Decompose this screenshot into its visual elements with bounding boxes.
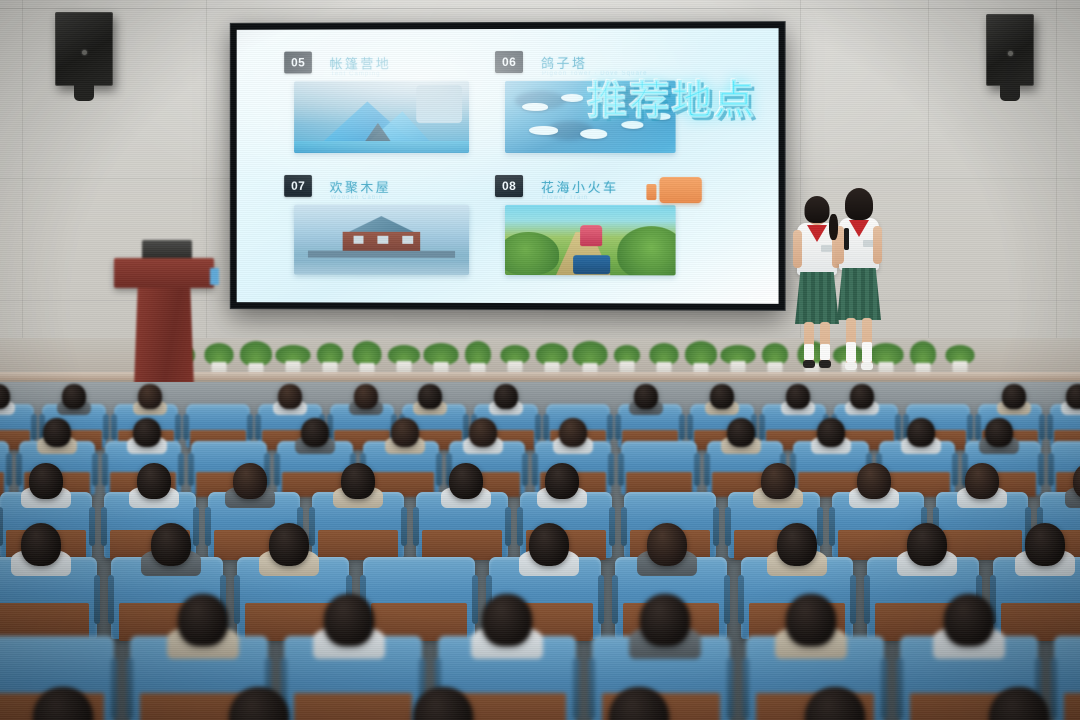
pigeon-shape bbox=[580, 128, 607, 138]
audience-member-head bbox=[647, 523, 688, 566]
audience-member-head bbox=[278, 384, 302, 409]
audience-member-head bbox=[857, 463, 891, 499]
audience-member-head bbox=[137, 463, 171, 499]
potted-plant bbox=[462, 338, 494, 376]
audience-member-head bbox=[62, 384, 86, 409]
audience-member-head bbox=[354, 384, 378, 409]
entry-number-badge: 08 bbox=[495, 175, 523, 197]
podium-monitor bbox=[142, 240, 192, 260]
slide-entry-05: 05 帐篷营地 Tent Camping bbox=[284, 51, 473, 73]
slide-entry-07: 07 欢聚木屋 Wooden Cabin bbox=[284, 175, 473, 197]
audience-member-head bbox=[640, 594, 689, 646]
red-scarf bbox=[807, 225, 827, 242]
legs bbox=[846, 318, 872, 370]
audience-member-head bbox=[33, 687, 93, 720]
audience-member-head bbox=[985, 418, 1013, 448]
entry-number-badge: 05 bbox=[284, 51, 312, 73]
train-car-shape bbox=[573, 256, 611, 274]
entry-title: 欢聚木屋 bbox=[330, 176, 392, 195]
audience-member-head bbox=[391, 418, 419, 448]
potted-plant bbox=[277, 336, 309, 374]
wall-seam bbox=[928, 0, 929, 340]
potted-plant bbox=[944, 336, 976, 374]
window-shape bbox=[378, 236, 388, 244]
potted-plant bbox=[499, 336, 531, 374]
window-shape bbox=[402, 236, 412, 244]
wall-speaker-left bbox=[55, 12, 113, 86]
audience-member-head bbox=[324, 594, 373, 646]
entry-title: 鸽子塔 bbox=[541, 52, 588, 71]
arm-holding-mic bbox=[873, 226, 882, 264]
audience-member-head bbox=[151, 523, 192, 566]
water-shape bbox=[294, 259, 469, 275]
audience-member-head bbox=[777, 523, 818, 566]
entry-subtitle: Pigeon Tower · Dove Square bbox=[542, 71, 648, 77]
audience-member-head bbox=[1066, 384, 1080, 409]
podium-top bbox=[114, 258, 214, 288]
audience-member-head bbox=[494, 384, 518, 409]
entry-title: 花海小火车 bbox=[541, 177, 619, 196]
ponytail bbox=[829, 214, 838, 240]
tree-shape bbox=[416, 85, 462, 122]
potted-plant bbox=[240, 338, 272, 376]
audience-member-head bbox=[907, 523, 948, 566]
audience-member-head bbox=[944, 594, 993, 646]
audience-member-head bbox=[529, 523, 570, 566]
entry-thumbnail-train bbox=[505, 205, 676, 275]
speaker-mount bbox=[1000, 83, 1020, 101]
audience-area bbox=[0, 382, 1080, 720]
audience-member-head bbox=[727, 418, 755, 448]
locomotive-shape bbox=[580, 225, 602, 246]
wall-speaker-right bbox=[986, 14, 1034, 86]
audience-member-head bbox=[1002, 384, 1026, 409]
orange-decoration-mark bbox=[659, 177, 701, 203]
potted-plant bbox=[907, 338, 939, 376]
audience-member-head bbox=[965, 463, 999, 499]
bush-shape bbox=[617, 226, 675, 275]
potted-plant bbox=[574, 338, 606, 376]
audience-member-head bbox=[634, 384, 658, 409]
wall-seam bbox=[1056, 0, 1057, 340]
microphone[interactable] bbox=[844, 228, 849, 250]
cabin-photo bbox=[294, 205, 469, 275]
potted-plant bbox=[536, 337, 568, 375]
audience-member-head bbox=[301, 418, 329, 448]
potted-plant bbox=[314, 337, 346, 375]
arm bbox=[793, 230, 802, 268]
audience-member-head bbox=[907, 418, 935, 448]
hair bbox=[845, 188, 873, 220]
audience-member-head bbox=[43, 418, 71, 448]
entry-subtitle: Flower Train bbox=[542, 195, 588, 201]
audience-member-head bbox=[545, 463, 579, 499]
speaker-mount bbox=[74, 83, 94, 101]
speaker-cone-icon bbox=[82, 50, 87, 55]
wall-seam bbox=[22, 0, 23, 340]
auditorium-scene: 05 帐篷营地 Tent Camping 06 鸽子塔 Pigeo bbox=[0, 0, 1080, 720]
audience-member-head bbox=[418, 384, 442, 409]
uniform-skirt bbox=[837, 268, 881, 320]
podium-sign bbox=[210, 268, 219, 285]
audience-member-head bbox=[761, 463, 795, 499]
pigeon-shape bbox=[561, 94, 583, 102]
slide-entry-06: 06 鸽子塔 Pigeon Tower · Dove Square bbox=[495, 51, 696, 74]
presenter-right bbox=[832, 188, 886, 384]
audience-member-head bbox=[469, 418, 497, 448]
legs bbox=[804, 322, 830, 368]
entry-number-badge: 06 bbox=[495, 51, 523, 73]
audience-member-head bbox=[1025, 523, 1066, 566]
audience-member-head bbox=[138, 384, 162, 409]
entry-subtitle: Tent Camping bbox=[331, 71, 381, 77]
audience-member-head bbox=[989, 687, 1049, 720]
seat-row bbox=[0, 692, 1080, 720]
potted-plant bbox=[648, 337, 680, 375]
train-photo bbox=[505, 205, 676, 275]
audience-member-head bbox=[133, 418, 161, 448]
podium[interactable] bbox=[118, 240, 210, 388]
ground-shape bbox=[294, 142, 469, 154]
potted-plant bbox=[388, 336, 420, 374]
audience-member-head bbox=[229, 687, 289, 720]
audience-member-head bbox=[559, 418, 587, 448]
pigeon-shape bbox=[529, 126, 558, 135]
audience-member-head bbox=[609, 687, 669, 720]
entry-title: 帐篷营地 bbox=[330, 53, 392, 72]
potted-plant bbox=[425, 337, 457, 375]
potted-plant bbox=[759, 337, 791, 375]
entry-number-badge: 07 bbox=[284, 175, 312, 197]
deck-shape bbox=[308, 251, 455, 258]
potted-plant bbox=[351, 338, 383, 376]
red-scarf bbox=[849, 220, 869, 237]
speaker-cone-icon bbox=[1008, 51, 1013, 56]
podium-column bbox=[134, 288, 194, 388]
tent-photo bbox=[294, 81, 469, 153]
audience-member-head bbox=[850, 384, 874, 409]
entry-subtitle: Wooden Cabin bbox=[331, 195, 383, 201]
audience-member-head bbox=[269, 523, 310, 566]
pigeon-shape bbox=[522, 103, 548, 112]
audience-member-head bbox=[449, 463, 483, 499]
audience-member-head bbox=[786, 594, 835, 646]
audience-member-head bbox=[29, 463, 63, 499]
wall-seam bbox=[0, 8, 1080, 9]
audience-member-head bbox=[341, 463, 375, 499]
audience-member-head bbox=[786, 384, 810, 409]
potted-plant bbox=[611, 336, 643, 374]
hair bbox=[805, 196, 830, 223]
audience-member-head bbox=[817, 418, 845, 448]
audience-member-head bbox=[21, 523, 62, 566]
potted-plant bbox=[722, 336, 754, 374]
audience-member-head bbox=[233, 463, 267, 499]
audience-member-head bbox=[482, 594, 531, 646]
audience-member-head bbox=[805, 687, 865, 720]
entry-thumbnail-cabin bbox=[294, 205, 469, 275]
potted-plant bbox=[685, 338, 717, 376]
slide-headline: 推荐地点 bbox=[587, 81, 756, 121]
presentation-slide: 05 帐篷营地 Tent Camping 06 鸽子塔 Pigeo bbox=[237, 28, 779, 304]
bush-shape bbox=[505, 232, 559, 276]
name-badge bbox=[821, 245, 832, 252]
window-shape bbox=[353, 236, 363, 244]
audience-member-head bbox=[178, 594, 227, 646]
entry-thumbnail-tent bbox=[294, 81, 469, 153]
audience-member-head bbox=[413, 687, 473, 720]
projection-screen[interactable]: 05 帐篷营地 Tent Camping 06 鸽子塔 Pigeo bbox=[230, 21, 786, 311]
audience-member-head bbox=[710, 384, 734, 409]
